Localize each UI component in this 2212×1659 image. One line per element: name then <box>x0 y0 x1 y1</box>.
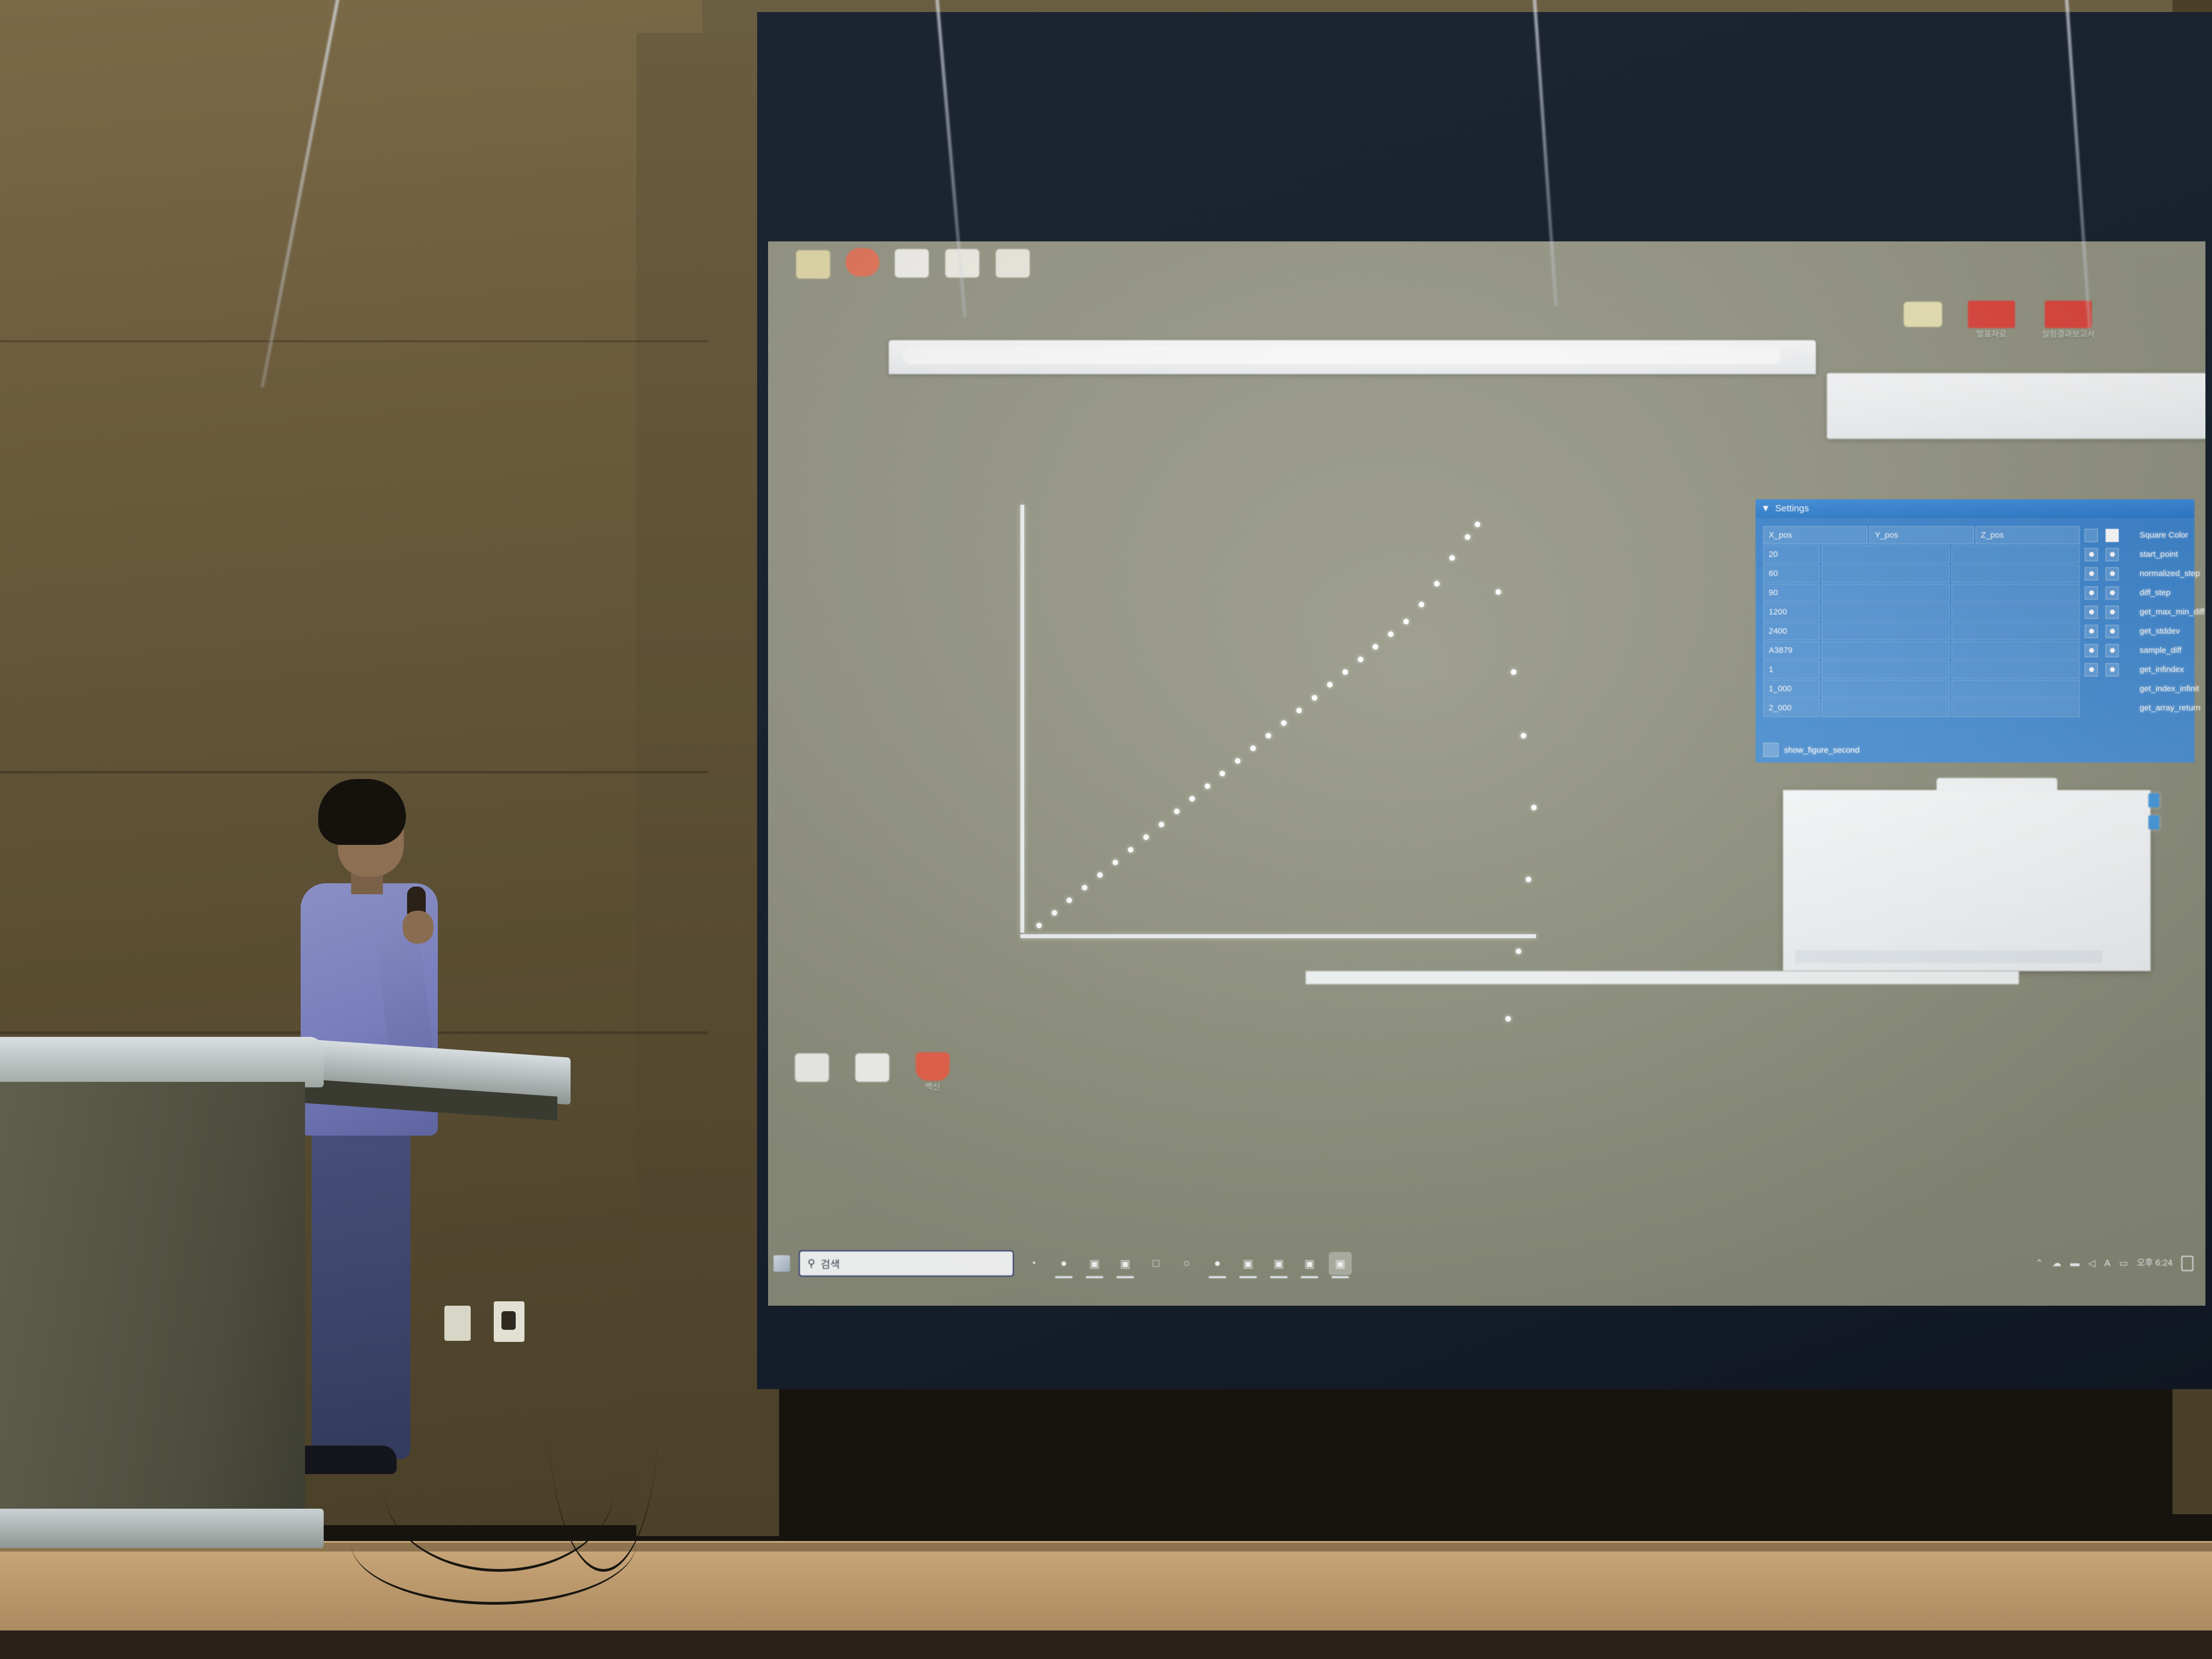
radio-dot <box>2110 552 2115 557</box>
podium-base <box>0 1509 324 1548</box>
taskbar-app-teams[interactable]: ○ <box>1175 1252 1198 1275</box>
shield-icon <box>916 1052 950 1081</box>
wall-seam <box>0 340 708 342</box>
taskbar-clock[interactable]: 오후 6:24 <box>2137 1259 2172 1268</box>
settings-table-header-cell: Y_pos <box>1869 526 1973 544</box>
desktop-icon-app3[interactable] <box>789 1053 835 1084</box>
settings-radio-row[interactable] <box>2085 602 2131 622</box>
taskbar-app-list[interactable]: ◔●▣▣□○●▣▣▣▣ <box>1014 1252 1352 1275</box>
settings-table-cell[interactable] <box>1951 565 2080 583</box>
desktop-icon-folder3[interactable] <box>990 249 1036 280</box>
plot-point <box>1526 877 1531 882</box>
settings-name-label: start_point <box>2140 545 2205 564</box>
taskbar-app-active[interactable]: ▣ <box>1329 1252 1352 1275</box>
settings-table-cell[interactable] <box>1951 545 2080 563</box>
settings-table-cell[interactable]: 2400 <box>1763 622 1820 640</box>
radio-button[interactable] <box>2085 529 2098 542</box>
settings-name-label: get_stddev <box>2140 622 2205 641</box>
plot-point <box>1174 809 1180 814</box>
radio-dot <box>2089 571 2094 576</box>
radio-dot <box>2110 610 2115 614</box>
settings-name-label: Square Color <box>2140 526 2205 545</box>
settings-table-row[interactable]: A3879 <box>1763 641 2081 660</box>
desktop-icon-label: 실험결과보고서 <box>2030 330 2107 339</box>
radio-dot <box>2089 590 2094 595</box>
plot-point <box>1496 589 1501 595</box>
document-icon <box>855 1053 889 1082</box>
x-axis <box>1020 934 1536 938</box>
radio-button[interactable] <box>2106 625 2119 638</box>
plot-point <box>1052 910 1057 916</box>
plot-point <box>1516 949 1521 954</box>
settings-table-cell[interactable] <box>1821 641 1950 659</box>
settings-table-cell[interactable]: 2_000 <box>1763 699 1820 717</box>
podium-body <box>0 1082 305 1521</box>
settings-dialog-body: X_posY_posZ_pos20609012002400A387911_000… <box>1756 518 2194 763</box>
presenter-hair <box>318 779 406 845</box>
settings-radio-row[interactable] <box>2085 583 2131 602</box>
running-indicator <box>1209 1276 1226 1278</box>
taskbar-app-explorer[interactable]: ▣ <box>1083 1252 1106 1275</box>
window-bottom-strip <box>1306 971 2019 984</box>
taskbar-app-edge[interactable]: ● <box>1052 1252 1075 1275</box>
settings-table-cell[interactable] <box>1821 584 1950 602</box>
plot-point <box>1312 695 1317 701</box>
settings-table-cell[interactable] <box>1951 584 2080 602</box>
radio-button[interactable] <box>2085 644 2098 657</box>
checkbox-icon[interactable] <box>1763 743 1779 757</box>
podium-top <box>0 1037 324 1087</box>
stage-front-shadow <box>0 1630 2212 1659</box>
radio-button[interactable] <box>2106 663 2119 676</box>
settings-dialog[interactable]: ▼ Settings X_posY_posZ_pos20609012002400… <box>1756 499 2194 763</box>
plot-point <box>1205 783 1210 789</box>
settings-table-header: X_posY_posZ_pos <box>1763 526 2081 545</box>
settings-table-row[interactable]: 1 <box>1763 660 2081 679</box>
settings-table-row[interactable]: 90 <box>1763 583 2081 602</box>
radio-dot <box>2089 648 2094 653</box>
settings-table[interactable]: X_posY_posZ_pos20609012002400A387911_000… <box>1763 526 2081 718</box>
plot-point <box>1403 619 1409 624</box>
running-indicator <box>1116 1276 1134 1278</box>
taskbar-app-folder[interactable]: ▣ <box>1114 1252 1137 1275</box>
settings-name-label: get_index_infinit <box>2140 679 2205 698</box>
running-indicator <box>1086 1276 1103 1278</box>
plot-point <box>1097 872 1103 878</box>
radio-button[interactable] <box>2085 663 2098 676</box>
desktop-icon-shield[interactable]: 백신 <box>910 1052 956 1092</box>
settings-table-cell[interactable]: 1 <box>1763 661 1820 679</box>
desktop-icon-label: 발표자료 <box>1959 330 2024 339</box>
plot-point <box>1159 822 1164 827</box>
plot-point <box>1296 708 1302 713</box>
taskbar-app-chrome[interactable]: ● <box>1206 1252 1229 1275</box>
settings-radio-row[interactable] <box>2085 622 2131 641</box>
radio-button[interactable] <box>2106 586 2119 600</box>
settings-footer-label: show_figure_second <box>1784 746 1860 755</box>
settings-table-cell[interactable] <box>1951 641 2080 659</box>
settings-dialog-footer[interactable]: show_figure_second <box>1763 743 1860 757</box>
desktop-icon-pdf-2[interactable]: 실험결과보고서 <box>2030 301 2107 339</box>
radio-dot <box>2110 590 2115 595</box>
settings-table-cell[interactable] <box>1821 622 1950 640</box>
settings-radio-row[interactable] <box>2085 660 2131 679</box>
network-icon[interactable]: ▬ <box>2070 1258 2079 1269</box>
radio-dot <box>2110 648 2115 653</box>
settings-table-cell[interactable] <box>1821 699 1950 717</box>
plot-point <box>1036 923 1042 928</box>
radio-button[interactable] <box>2085 586 2098 600</box>
settings-table-cell[interactable] <box>1951 661 2080 679</box>
settings-table-cell[interactable] <box>1821 565 1950 583</box>
running-indicator <box>1301 1276 1318 1278</box>
settings-table-row[interactable]: 1_000 <box>1763 679 2081 698</box>
plot-point <box>1434 581 1440 586</box>
settings-table-row[interactable]: 60 <box>1763 564 2081 583</box>
radio-dot <box>2089 667 2094 672</box>
radio-dot <box>2089 629 2094 634</box>
plot-point <box>1128 847 1133 853</box>
plot-point <box>1475 522 1480 527</box>
plot-point <box>1511 669 1516 675</box>
y-axis <box>1020 505 1024 933</box>
settings-name-label: sample_diff <box>2140 641 2205 660</box>
plot-point <box>1281 720 1286 726</box>
radio-button[interactable] <box>2085 625 2098 638</box>
desktop-icon-note[interactable] <box>1893 302 1953 329</box>
settings-dialog-title: Settings <box>1775 503 1809 514</box>
scroll-up-button[interactable] <box>2148 793 2159 808</box>
radio-dot <box>2110 629 2115 634</box>
settings-radio-column[interactable] <box>2085 526 2131 679</box>
plot-point <box>1143 834 1149 840</box>
taskbar-app-editor[interactable]: ▣ <box>1237 1252 1260 1275</box>
plot-point <box>1358 657 1363 662</box>
taskbar-app-notepad[interactable]: ▣ <box>1298 1252 1321 1275</box>
plot-point <box>1113 860 1118 865</box>
settings-table-cell[interactable]: 60 <box>1763 565 1820 583</box>
photo-scene: 발표자료 실험결과보고서 ▼ <box>0 0 2212 1659</box>
browser-window[interactable] <box>889 340 1816 374</box>
system-tray[interactable]: ⌃☁▬◁A▭ 오후 6:24 <box>2035 1256 2205 1271</box>
projected-desktop: 발표자료 실험결과보고서 ▼ <box>768 241 2205 1306</box>
radio-dot <box>2110 571 2115 576</box>
plot-point <box>1235 758 1240 764</box>
radio-button[interactable] <box>2085 548 2098 561</box>
radio-button[interactable] <box>2085 567 2098 580</box>
settings-table-cell[interactable]: 20 <box>1763 545 1820 563</box>
podium <box>0 1037 335 1580</box>
plot-point <box>1266 733 1271 738</box>
volume-icon[interactable]: ◁ <box>2088 1258 2095 1269</box>
plot-point <box>1465 534 1470 540</box>
running-indicator <box>1270 1276 1288 1278</box>
settings-table-cell[interactable] <box>1951 622 2080 640</box>
taskbar-app-weather[interactable]: ◔ <box>1022 1252 1045 1275</box>
settings-table-cell[interactable] <box>1821 545 1950 563</box>
settings-table-row[interactable]: 2400 <box>1763 622 2081 641</box>
presenter-hand <box>403 911 433 944</box>
desktop-icon-document[interactable] <box>849 1053 895 1084</box>
settings-name-label: diff_step <box>2140 583 2205 602</box>
plot-point <box>1419 602 1424 607</box>
settings-table-cell[interactable] <box>1821 603 1950 621</box>
chevron-down-icon: ▼ <box>1761 503 1770 514</box>
settings-name-label: get_max_min_diff <box>2140 602 2205 622</box>
app-icon <box>895 249 929 278</box>
windows-taskbar[interactable]: ⚲ 검색 ◔●▣▣□○●▣▣▣▣ ⌃☁▬◁A▭ 오후 6:24 <box>768 1246 2205 1280</box>
settings-table-row[interactable]: 20 <box>1763 545 2081 564</box>
desktop-icon-pdf-1[interactable]: 발표자료 <box>1959 301 2024 339</box>
battery-icon[interactable]: ▭ <box>2119 1258 2128 1269</box>
panel-tab[interactable] <box>1937 778 2057 791</box>
settings-dialog-titlebar[interactable]: ▼ Settings <box>1756 499 2194 518</box>
onedrive-icon[interactable]: ☁ <box>2052 1258 2061 1269</box>
ime-indicator[interactable]: A <box>2104 1258 2111 1269</box>
settings-radio-row[interactable] <box>2085 545 2131 564</box>
settings-name-label: get_infindex <box>2140 660 2205 679</box>
radio-button[interactable] <box>2106 529 2119 542</box>
scatter-plot <box>1020 505 1536 938</box>
settings-table-header-cell: Z_pos <box>1976 526 2080 544</box>
desktop-icon-app[interactable] <box>839 248 885 279</box>
settings-table-cell[interactable]: 1200 <box>1763 603 1820 621</box>
settings-table-cell[interactable]: 90 <box>1763 584 1820 602</box>
note-icon <box>1904 302 1942 327</box>
plot-point <box>1250 746 1256 751</box>
settings-table-row[interactable]: 2_000 <box>1763 698 2081 718</box>
settings-table-header-cell: X_pos <box>1763 526 1867 544</box>
plot-point <box>1189 796 1195 802</box>
radio-dot <box>2089 552 2094 557</box>
scroll-down-button[interactable] <box>2148 815 2159 830</box>
settings-table-cell[interactable] <box>1951 603 2080 621</box>
radio-dot <box>2110 667 2115 672</box>
desktop-icon-app2[interactable] <box>889 249 935 280</box>
app-icon <box>795 1053 829 1082</box>
plot-point <box>1373 644 1378 650</box>
clock-time: 오후 6:24 <box>2137 1259 2172 1268</box>
plot-point <box>1082 885 1087 890</box>
plot-point <box>1531 805 1537 810</box>
pdf-icon <box>1968 301 2015 328</box>
plot-point <box>1066 898 1072 903</box>
settings-radio-row[interactable] <box>2085 564 2131 583</box>
search-icon: ⚲ <box>808 1257 815 1270</box>
pdf-icon <box>2045 301 2092 328</box>
radio-button[interactable] <box>2106 606 2119 619</box>
address-bar[interactable] <box>903 347 1781 364</box>
settings-table-cell[interactable] <box>1951 699 2080 717</box>
wall-seam <box>0 771 708 774</box>
running-indicator <box>1055 1276 1073 1278</box>
plot-point <box>1342 669 1348 675</box>
settings-table-row[interactable]: 1200 <box>1763 602 2081 622</box>
radio-button[interactable] <box>2085 606 2098 619</box>
plot-point <box>1220 771 1225 776</box>
plot-point <box>1521 733 1526 738</box>
panel-footer-strip <box>1795 950 2102 963</box>
running-indicator <box>1239 1276 1257 1278</box>
settings-name-column: Square Colorstart_pointnormalized_stepdi… <box>2140 526 2205 718</box>
search-placeholder: 검색 <box>821 1256 840 1271</box>
settings-table-cell[interactable] <box>1821 661 1950 679</box>
blank-panel-window[interactable] <box>1783 790 2151 971</box>
settings-name-label: normalized_step <box>2140 564 2205 583</box>
folder-icon <box>796 250 830 279</box>
radio-button[interactable] <box>2106 567 2119 580</box>
search-input[interactable]: ⚲ 검색 <box>799 1250 1014 1277</box>
desktop-icon-label: 백신 <box>910 1083 956 1092</box>
settings-radio-row[interactable] <box>2085 641 2131 660</box>
floor-cable <box>549 1262 658 1572</box>
app-icon <box>845 248 879 276</box>
settings-table-cell[interactable] <box>1821 680 1950 698</box>
radio-button[interactable] <box>2106 548 2119 561</box>
show-desktop-button[interactable] <box>2181 1256 2193 1271</box>
start-button[interactable] <box>774 1255 790 1272</box>
settings-table-cell[interactable] <box>1951 680 2080 698</box>
taskbar-app-store[interactable]: □ <box>1144 1252 1167 1275</box>
running-indicator <box>1331 1276 1349 1278</box>
desktop-icon-folder[interactable] <box>790 250 836 281</box>
plot-point <box>1327 682 1333 687</box>
settings-radio-row[interactable] <box>2085 526 2131 545</box>
plot-point <box>1388 631 1393 637</box>
settings-table-cell[interactable]: A3879 <box>1763 641 1820 659</box>
taskbar-app-python[interactable]: ▣ <box>1267 1252 1290 1275</box>
secondary-window[interactable] <box>1827 373 2205 439</box>
show-hidden-icons-chevron[interactable]: ⌃ <box>2035 1258 2043 1269</box>
folder-icon <box>996 249 1030 278</box>
settings-table-cell[interactable]: 1_000 <box>1763 680 1820 698</box>
settings-name-label: get_array_return <box>2140 698 2205 718</box>
radio-dot <box>2089 610 2094 614</box>
plot-point <box>1505 1016 1511 1022</box>
radio-button[interactable] <box>2106 644 2119 657</box>
plot-point <box>1449 555 1455 561</box>
